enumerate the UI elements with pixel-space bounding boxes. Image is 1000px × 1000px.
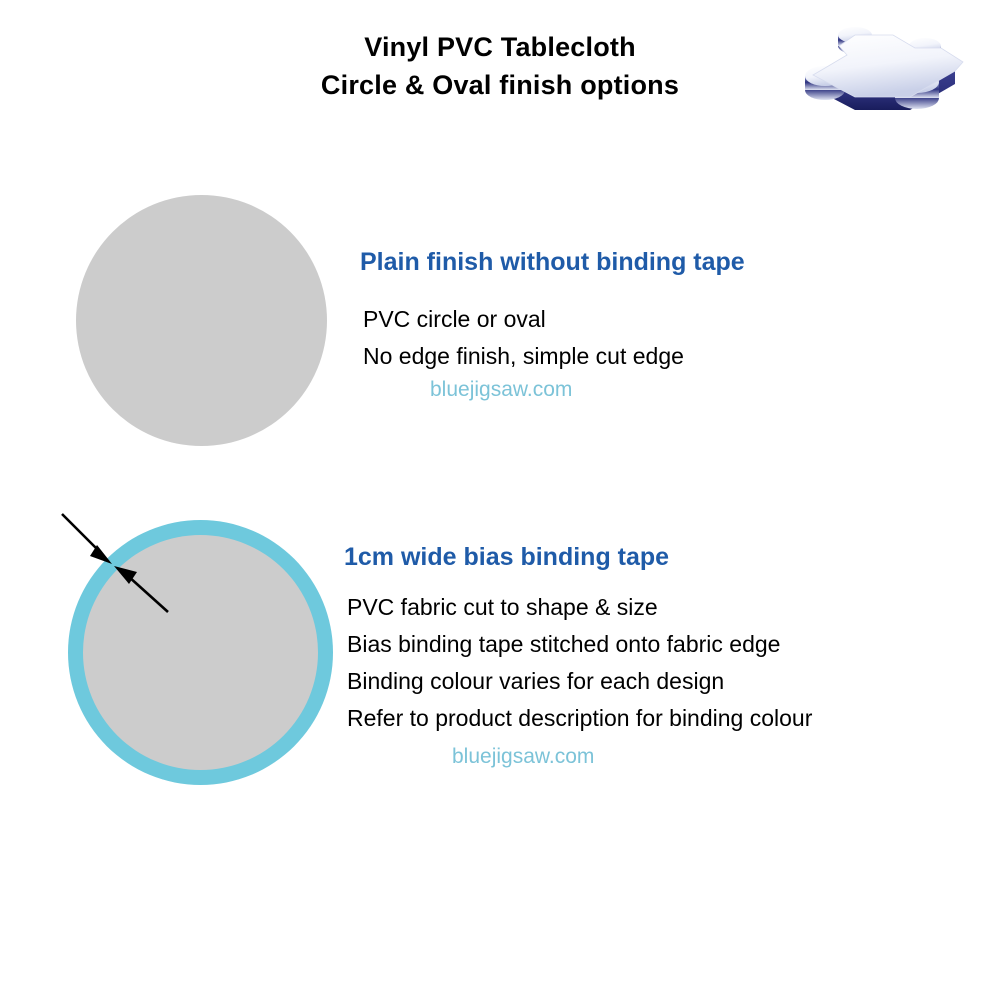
section-1-website-url[interactable]: bluejigsaw.com — [430, 378, 572, 402]
bluejigsaw-puzzle-piece-logo — [795, 18, 985, 138]
poster-canvas: Vinyl PVC Tablecloth Circle & Oval finis… — [0, 0, 1000, 1000]
section-2-line-3: Binding colour varies for each design — [347, 668, 724, 695]
section-1-line-2: No edge finish, simple cut edge — [363, 343, 684, 370]
section-2-line-2: Bias binding tape stitched onto fabric e… — [347, 631, 780, 658]
section-heading-plain-finish: Plain finish without binding tape — [360, 248, 745, 277]
section-2-line-4: Refer to product description for binding… — [347, 705, 812, 732]
section-1-line-1: PVC circle or oval — [363, 306, 546, 333]
puzzle-piece-icon — [795, 18, 985, 138]
pvc-fabric-fill — [83, 535, 318, 770]
section-heading-bias-binding: 1cm wide bias binding tape — [344, 543, 669, 572]
annotation-arrows — [0, 0, 1000, 1000]
plain-pvc-circle-shape — [76, 195, 327, 446]
section-2-line-1: PVC fabric cut to shape & size — [347, 594, 658, 621]
bound-pvc-circle-shape — [68, 520, 333, 785]
section-2-website-url[interactable]: bluejigsaw.com — [452, 745, 594, 769]
arrow-to-binding-tape — [62, 514, 112, 564]
